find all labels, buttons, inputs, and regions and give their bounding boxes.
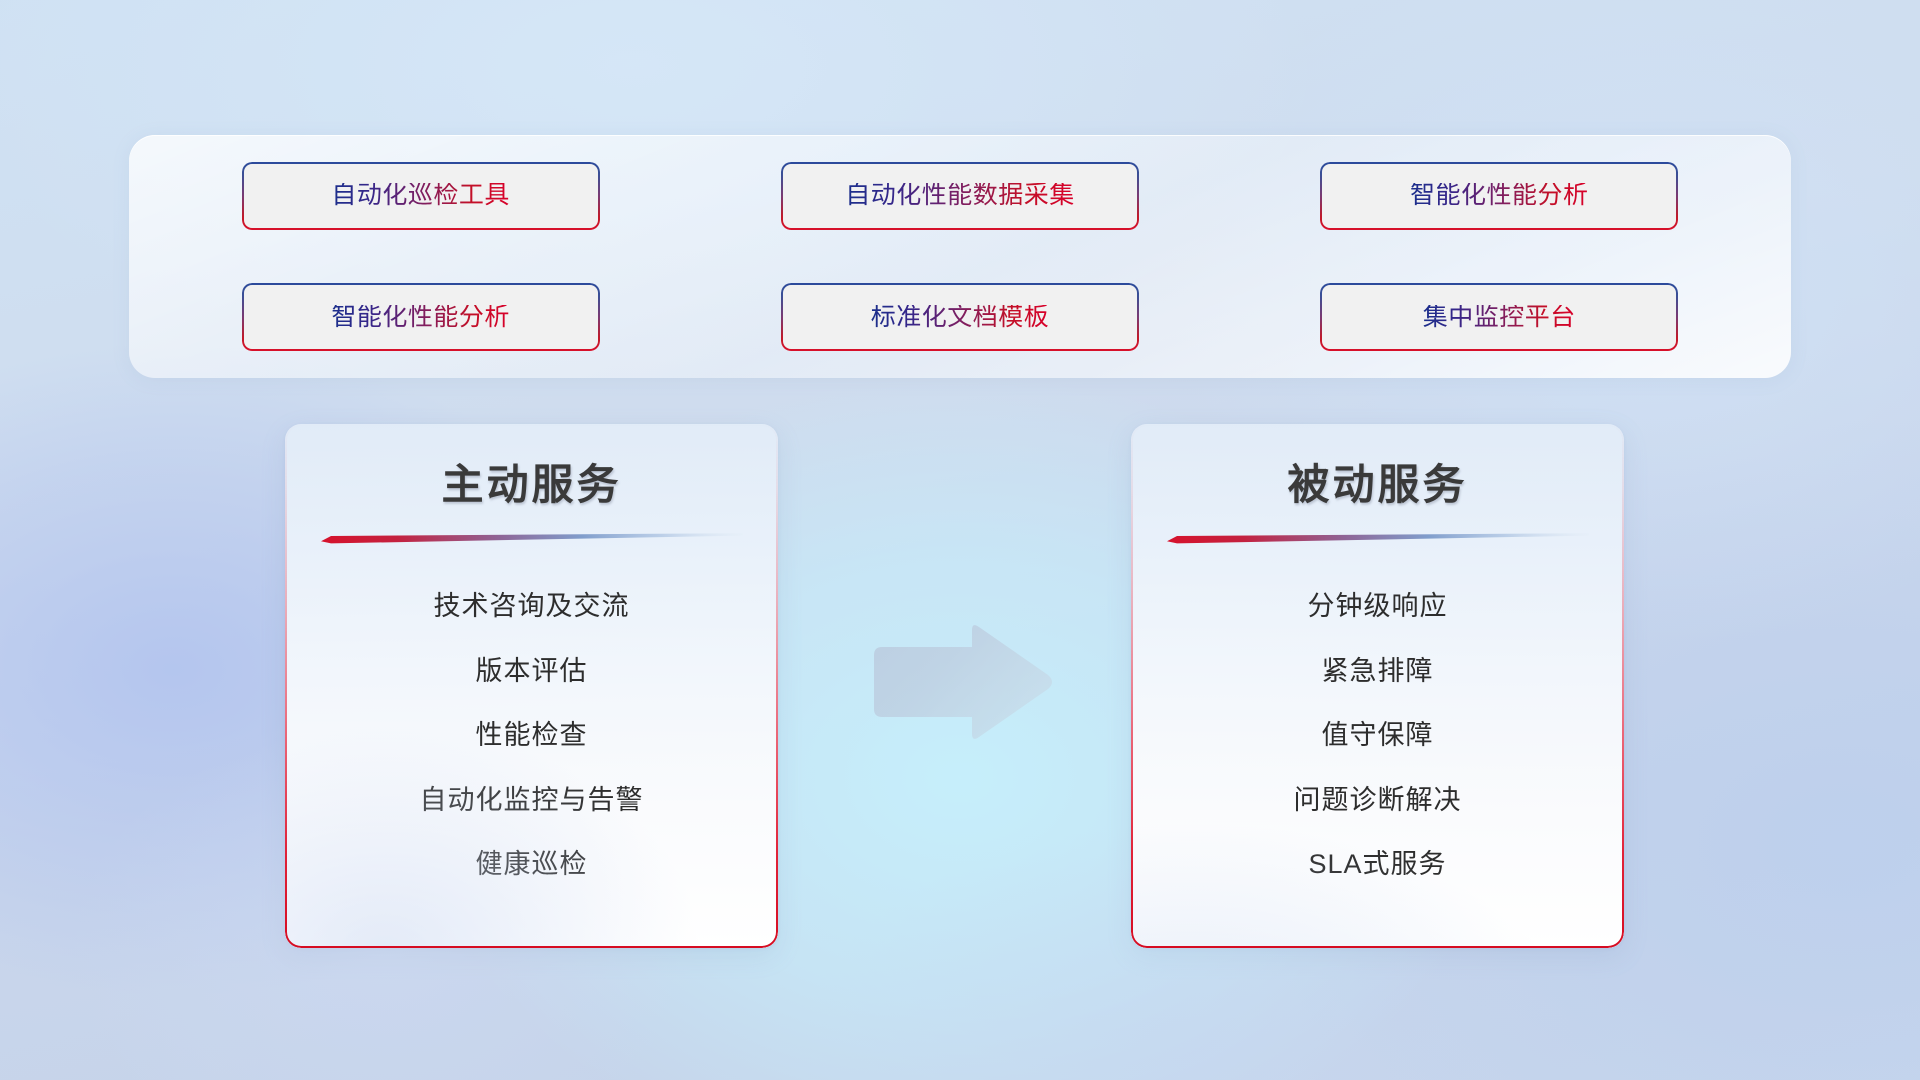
slide-canvas: 自动化巡检工具 自动化性能数据采集 智能化性能分析 智能化性能分析 标准化文档模… bbox=[0, 0, 1920, 1080]
capability-panel: 自动化巡检工具 自动化性能数据采集 智能化性能分析 智能化性能分析 标准化文档模… bbox=[129, 135, 1791, 378]
card-divider bbox=[321, 532, 743, 544]
capability-pill-label: 智能化性能分析 bbox=[331, 305, 510, 330]
capability-pill-label: 集中监控平台 bbox=[1423, 305, 1576, 330]
capability-pill-6[interactable]: 集中监控平台 bbox=[1320, 283, 1678, 351]
card-list-item: 健康巡检 bbox=[285, 832, 778, 896]
card-list-item: 自动化监控与告警 bbox=[285, 768, 778, 832]
capability-pill-5[interactable]: 标准化文档模板 bbox=[781, 283, 1139, 351]
card-divider bbox=[1167, 532, 1589, 544]
card-list-item: 值守保障 bbox=[1131, 703, 1624, 767]
card-list-item: 版本评估 bbox=[285, 639, 778, 703]
capability-pill-label: 自动化巡检工具 bbox=[331, 183, 510, 208]
service-card-reactive[interactable]: 被动服务 bbox=[1131, 424, 1624, 948]
card-item-list: 分钟级响应 紧急排障 值守保障 问题诊断解决 SLA式服务 bbox=[1131, 544, 1624, 896]
card-title: 被动服务 bbox=[1131, 424, 1624, 510]
capability-pill-3[interactable]: 智能化性能分析 bbox=[1320, 162, 1678, 230]
card-list-item: SLA式服务 bbox=[1131, 832, 1624, 896]
capability-pill-label: 智能化性能分析 bbox=[1410, 183, 1589, 208]
capability-pill-1[interactable]: 自动化巡检工具 bbox=[242, 162, 600, 230]
card-item-list: 技术咨询及交流 版本评估 性能检查 自动化监控与告警 健康巡检 bbox=[285, 544, 778, 896]
capability-pill-2[interactable]: 自动化性能数据采集 bbox=[781, 162, 1139, 230]
capability-pill-label: 自动化性能数据采集 bbox=[845, 183, 1075, 208]
service-card-proactive[interactable]: 主动服务 bbox=[285, 424, 778, 948]
capability-pill-label: 标准化文档模板 bbox=[871, 305, 1050, 330]
capability-pill-4[interactable]: 智能化性能分析 bbox=[242, 283, 600, 351]
card-list-item: 紧急排障 bbox=[1131, 639, 1624, 703]
flow-arrow-right-icon bbox=[866, 622, 1056, 742]
card-list-item: 技术咨询及交流 bbox=[285, 574, 778, 638]
card-list-item: 分钟级响应 bbox=[1131, 574, 1624, 638]
card-list-item: 性能检查 bbox=[285, 703, 778, 767]
card-title: 主动服务 bbox=[285, 424, 778, 510]
card-list-item: 问题诊断解决 bbox=[1131, 768, 1624, 832]
